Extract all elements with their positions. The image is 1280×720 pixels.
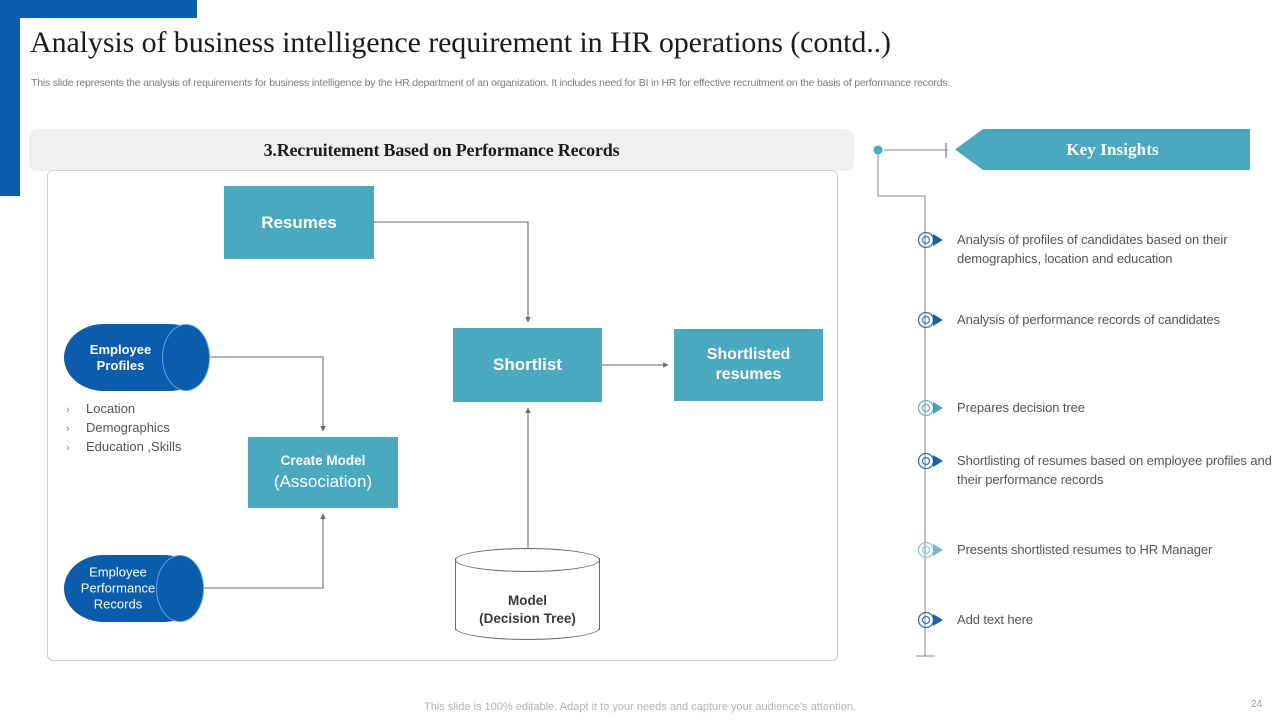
bullet-circle-triangle-icon <box>905 540 957 560</box>
chevron-right-icon: › <box>66 421 86 438</box>
list-item[interactable]: Shortlisting of resumes based on employe… <box>905 451 1275 489</box>
node-resumes[interactable]: Resumes <box>224 186 374 259</box>
list-item: › Demographics <box>66 419 246 438</box>
node-employee-performance-records-database[interactable]: Employee Performance Records <box>64 555 203 622</box>
key-insights-list: Analysis of profiles of candidates based… <box>905 215 1275 665</box>
list-item-label: Education ,Skills <box>86 438 181 455</box>
cylinder-top <box>455 548 600 572</box>
list-item[interactable]: Analysis of performance records of candi… <box>905 310 1275 330</box>
list-item: › Education ,Skills <box>66 438 246 457</box>
list-item-label: Presents shortlisted resumes to HR Manag… <box>957 540 1212 559</box>
bullet-circle-triangle-icon <box>905 398 957 418</box>
node-shortlist[interactable]: Shortlist <box>453 328 602 402</box>
list-item-label: Shortlisting of resumes based on employe… <box>957 451 1275 489</box>
bullet-circle-triangle-icon <box>905 310 957 330</box>
node-model-label: Model (Decision Tree) <box>455 592 600 627</box>
node-resumes-label: Resumes <box>261 212 337 233</box>
footer-note: This slide is 100% editable. Adapt it to… <box>0 701 1280 713</box>
list-item[interactable]: Presents shortlisted resumes to HR Manag… <box>905 540 1275 560</box>
list-item: › Location <box>66 400 246 419</box>
list-item-label: Location <box>86 400 135 417</box>
node-shortlisted-resumes[interactable]: Shortlisted resumes <box>674 329 823 401</box>
bullet-circle-triangle-icon <box>905 230 957 250</box>
page-title: Analysis of business intelligence requir… <box>30 26 1150 60</box>
page-subtitle: This slide represents the analysis of re… <box>31 77 1166 89</box>
bullet-circle-triangle-icon <box>905 451 957 471</box>
chevron-right-icon: › <box>66 402 86 419</box>
node-create-model-line1: Create Model <box>281 453 366 470</box>
list-item[interactable]: Prepares decision tree <box>905 398 1275 418</box>
list-item[interactable]: Add text here <box>905 610 1275 630</box>
node-create-model-line2: (Association) <box>274 471 372 492</box>
decorative-left-bar <box>0 0 20 196</box>
node-model-decision-tree-database[interactable]: Model (Decision Tree) <box>455 548 600 640</box>
list-item-label: Analysis of profiles of candidates based… <box>957 230 1275 268</box>
leader-line-dot <box>874 146 883 155</box>
key-insights-label: Key Insights <box>1046 140 1158 160</box>
profile-attributes-list: › Location › Demographics › Education ,S… <box>66 400 246 457</box>
chevron-right-icon: › <box>66 440 86 457</box>
section-header: 3.Recruitement Based on Performance Reco… <box>29 129 854 171</box>
page-number: 24 <box>1251 699 1262 710</box>
list-item-label: Demographics <box>86 419 170 436</box>
decorative-top-bar <box>0 0 197 18</box>
node-shortlisted-resumes-label: Shortlisted resumes <box>674 345 823 385</box>
node-create-model[interactable]: Create Model (Association) <box>248 437 398 508</box>
list-item-label: Analysis of performance records of candi… <box>957 310 1220 329</box>
node-employee-profiles-label: Employee Profiles <box>68 341 173 374</box>
key-insights-banner: Key Insights <box>955 129 1250 170</box>
node-shortlist-label: Shortlist <box>493 354 562 375</box>
list-item-label: Add text here <box>957 610 1033 629</box>
node-model-line1: Model <box>455 592 600 610</box>
list-item-label: Prepares decision tree <box>957 398 1085 417</box>
node-employee-performance-records-label: Employee Performance Records <box>68 564 168 613</box>
node-employee-profiles-database[interactable]: Employee Profiles <box>64 324 209 391</box>
node-model-line2: (Decision Tree) <box>455 610 600 628</box>
bullet-circle-triangle-icon <box>905 610 957 630</box>
section-header-label: 3.Recruitement Based on Performance Reco… <box>264 140 620 161</box>
list-item[interactable]: Analysis of profiles of candidates based… <box>905 230 1275 268</box>
